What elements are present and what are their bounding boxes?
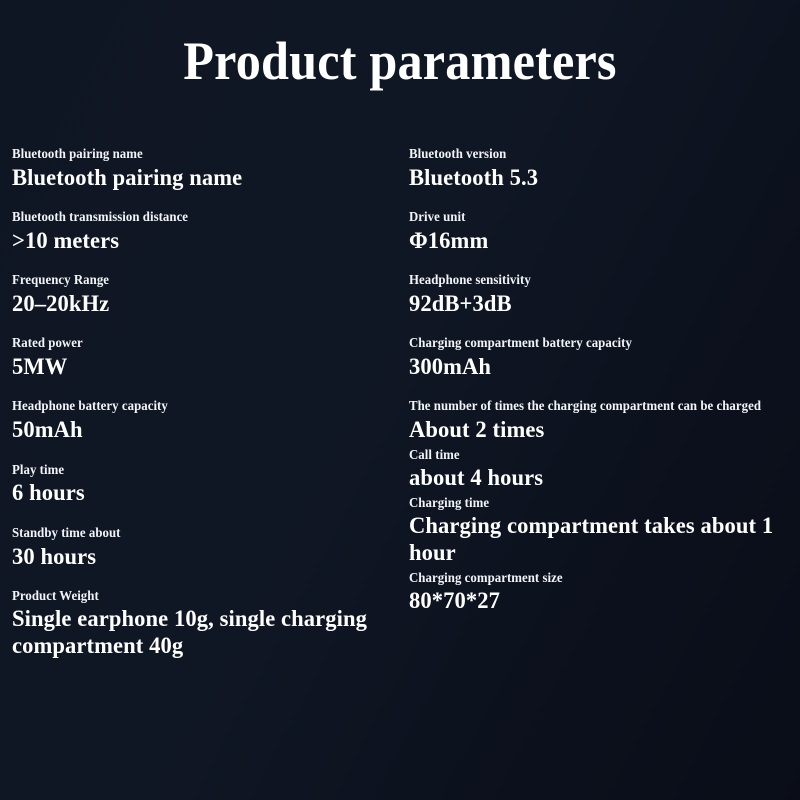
spec-row: Play time 6 hours [12, 462, 394, 508]
spec-row: The number of times the charging compart… [409, 398, 794, 444]
spec-value: about 4 hours [409, 464, 779, 492]
spec-label: Play time [12, 462, 375, 478]
spec-label: The number of times the charging compart… [409, 398, 775, 414]
spec-value: About 2 times [409, 416, 779, 444]
spec-row: Product Weight Single earphone 10g, sing… [12, 588, 394, 661]
spec-row: Charging compartment battery capacity 30… [409, 335, 794, 381]
spec-value: 6 hours [12, 479, 379, 507]
spec-label: Product Weight [12, 588, 375, 604]
spec-label: Bluetooth pairing name [12, 146, 375, 162]
page-title: Product parameters [28, 32, 772, 90]
product-parameters-page: Product parameters Bluetooth pairing nam… [0, 0, 800, 800]
spec-row: Charging time Charging compartment takes… [409, 495, 794, 568]
spec-row: Headphone battery capacity 50mAh [12, 398, 394, 444]
spec-value: Charging compartment takes about 1 hour [409, 513, 779, 568]
spec-row: Drive unit Φ16mm [409, 209, 794, 255]
spec-value: 50mAh [12, 416, 379, 444]
spec-value: Φ16mm [409, 227, 779, 255]
spec-value: Single earphone 10g, single charging com… [12, 606, 379, 661]
spec-label: Drive unit [409, 209, 775, 225]
spec-label: Headphone battery capacity [12, 398, 375, 414]
spec-row: Call time about 4 hours [409, 447, 794, 493]
spec-row: Standby time about 30 hours [12, 525, 394, 571]
spec-label: Frequency Range [12, 272, 375, 288]
spec-row: Charging compartment size 80*70*27 [409, 570, 794, 616]
spec-value: 5MW [12, 353, 379, 381]
spec-row: Rated power 5MW [12, 335, 394, 381]
spec-value: 300mAh [409, 353, 779, 381]
spec-label: Charging time [409, 495, 775, 511]
spec-label: Headphone sensitivity [409, 272, 775, 288]
spec-row: Bluetooth version Bluetooth 5.3 [409, 146, 794, 192]
spec-label: Call time [409, 447, 775, 463]
spec-label: Standby time about [12, 525, 375, 541]
spec-label: Bluetooth version [409, 146, 775, 162]
spec-value: 92dB+3dB [409, 290, 779, 318]
spec-column-right: Bluetooth version Bluetooth 5.3 Drive un… [409, 146, 794, 618]
spec-label: Bluetooth transmission distance [12, 209, 375, 225]
spec-row: Headphone sensitivity 92dB+3dB [409, 272, 794, 318]
spec-label: Charging compartment battery capacity [409, 335, 775, 351]
spec-row: Frequency Range 20–20kHz [12, 272, 394, 318]
spec-column-left: Bluetooth pairing name Bluetooth pairing… [12, 146, 394, 678]
spec-row: Bluetooth pairing name Bluetooth pairing… [12, 146, 394, 192]
spec-value: 80*70*27 [409, 587, 779, 615]
spec-label: Charging compartment size [409, 570, 775, 586]
spec-row: Bluetooth transmission distance >10 mete… [12, 209, 394, 255]
spec-value: Bluetooth 5.3 [409, 164, 779, 192]
spec-value: Bluetooth pairing name [12, 164, 379, 192]
spec-value: 20–20kHz [12, 290, 379, 318]
spec-value: 30 hours [12, 543, 379, 571]
spec-label: Rated power [12, 335, 375, 351]
spec-value: >10 meters [12, 227, 379, 255]
